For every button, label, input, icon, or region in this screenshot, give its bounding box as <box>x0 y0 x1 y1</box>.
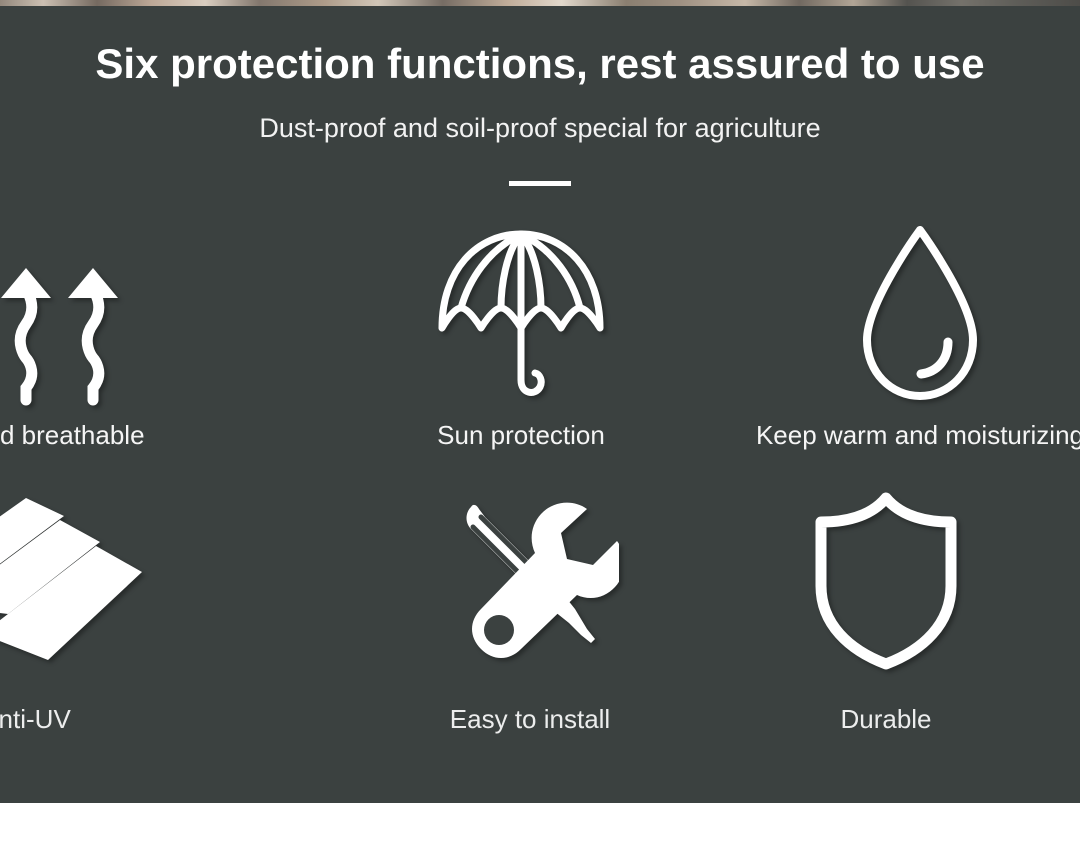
page-subtitle: Dust-proof and soil-proof special for ag… <box>0 112 1080 144</box>
wrench-screwdriver-icon <box>441 480 619 680</box>
page-title: Six protection functions, rest assured t… <box>0 40 1080 88</box>
dark-panel: Six protection functions, rest assured t… <box>0 6 1080 803</box>
feature-item-easy-install: Easy to install <box>350 470 710 762</box>
feature-label: Keep warm and moisturizing <box>756 420 1080 451</box>
feature-label: Light and breathable <box>0 420 145 451</box>
feature-label: Durable <box>840 704 931 735</box>
water-drop-icon <box>855 218 985 408</box>
feature-item-breathable: Light and breathable <box>0 202 206 470</box>
breathable-arrows-icon <box>0 218 126 408</box>
feature-row: Anti-UV <box>0 470 1080 762</box>
feature-item-anti-uv: Anti-UV <box>0 470 206 762</box>
feature-label: Easy to install <box>450 704 610 735</box>
title-divider <box>509 181 571 186</box>
bottom-whitespace <box>0 803 1080 857</box>
uv-layers-icon <box>0 480 148 680</box>
shield-icon <box>815 480 957 680</box>
feature-label: Sun protection <box>437 420 605 451</box>
feature-label: Anti-UV <box>0 704 71 735</box>
feature-item-keep-warm: Keep warm and moisturizing <box>740 202 1080 470</box>
promo-banner: Six protection functions, rest assured t… <box>0 0 1080 857</box>
feature-item-durable: Durable <box>706 470 1066 762</box>
umbrella-icon <box>436 218 606 408</box>
feature-item-sun-protection: Sun protection <box>341 202 701 470</box>
feature-row: Light and breathable <box>0 202 1080 470</box>
feature-grid: Light and breathable <box>0 202 1080 762</box>
